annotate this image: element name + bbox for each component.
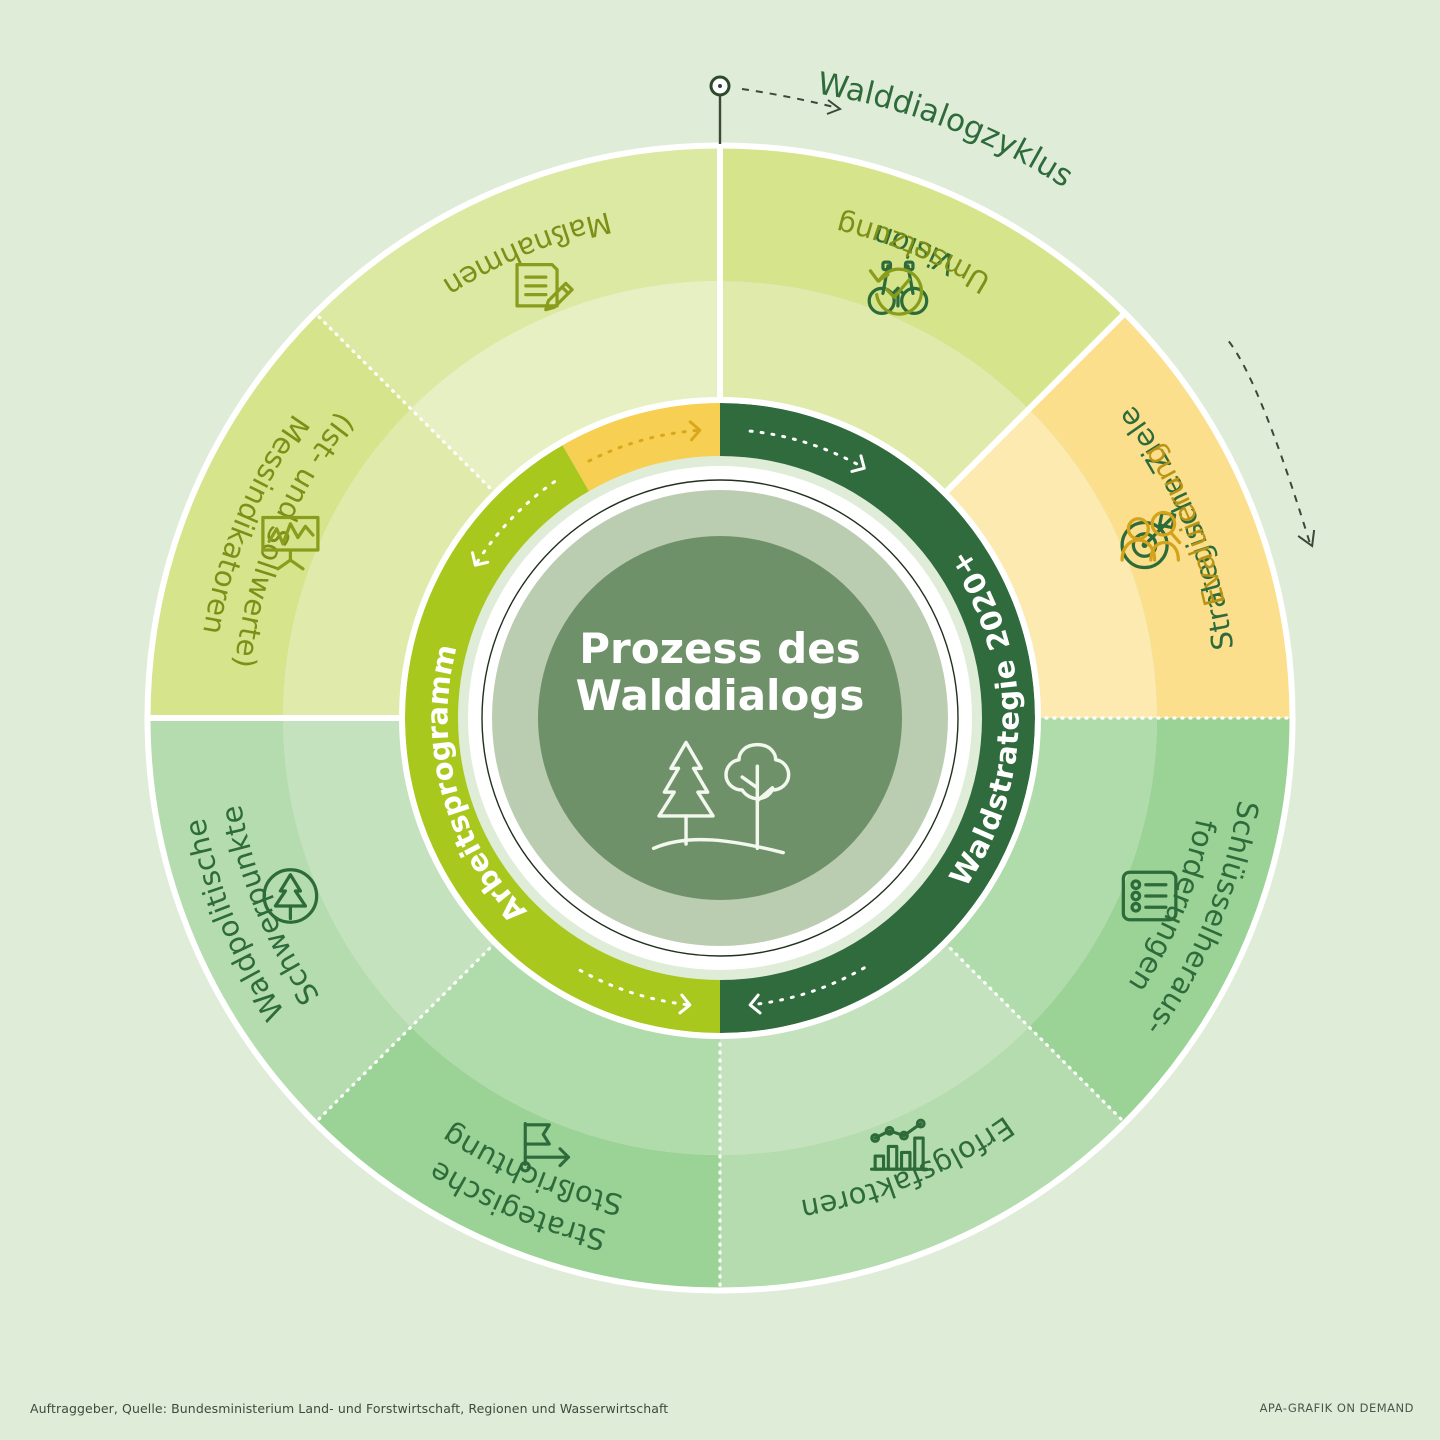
source-note: Auftraggeber, Quelle: Bundesministerium … [30, 1401, 668, 1416]
center-title-line2: Walddialogs [576, 671, 865, 720]
cycle-end-arrow-head [1298, 530, 1314, 546]
center-hub: Prozess desWalddialogs [468, 466, 972, 970]
credit-note: APA-GRAFIK ON DEMAND [1260, 1401, 1414, 1415]
wheel-diagram: Prozess desWalddialogs VisionStrategisch… [0, 0, 1440, 1440]
pin-dot [718, 84, 722, 88]
center-title-line1: Prozess des [579, 624, 860, 673]
infographic-canvas: Prozess desWalddialogs VisionStrategisch… [0, 0, 1440, 1440]
